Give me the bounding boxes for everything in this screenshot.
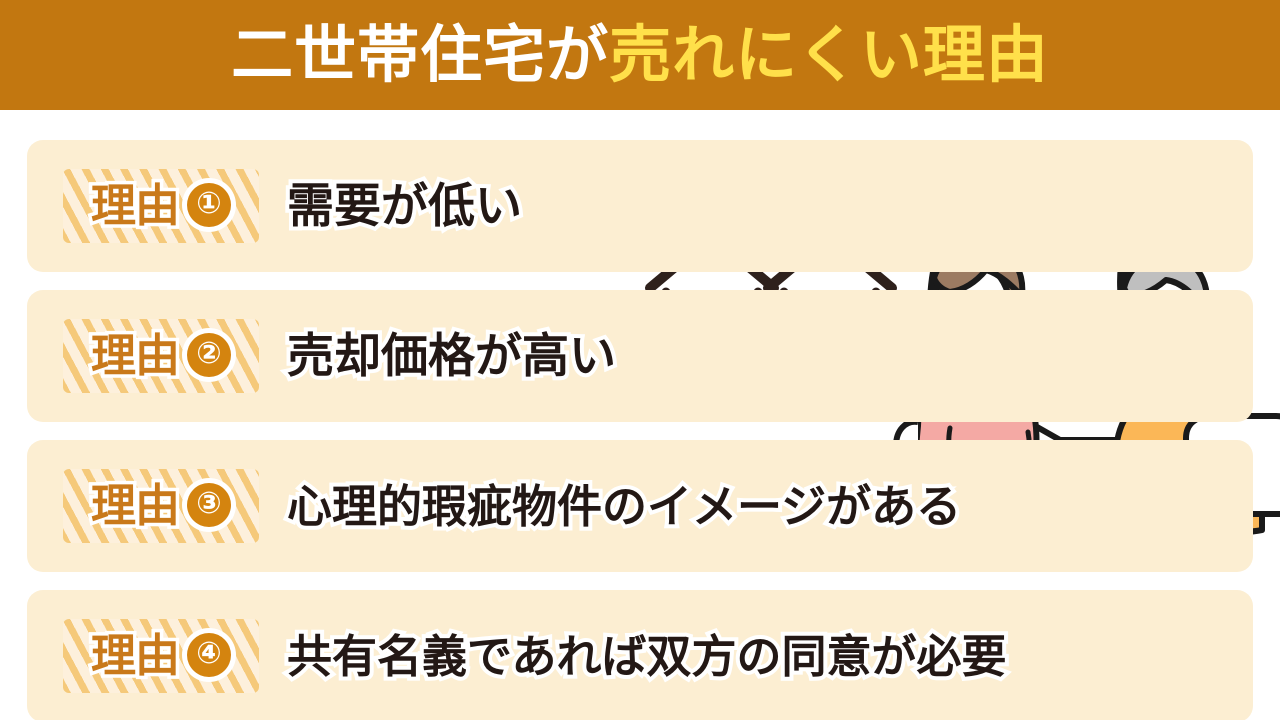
reason-text-3: 心理的瑕疵物件のイメージがある [287, 484, 961, 529]
reason-badge-number-3: ③ [187, 483, 231, 527]
reason-badge-number-text-3: ③ [196, 489, 221, 519]
reason-text-4: 共有名義であれば双方の同意が必要 [287, 634, 1007, 679]
header-bar: 二世帯住宅が売れにくい理由 [0, 0, 1280, 110]
reason-badge-label-4: 理由 [91, 633, 179, 678]
reason-badge-label-2: 理由 [91, 333, 179, 378]
reason-badge-number-4: ④ [187, 633, 231, 677]
reason-badge-4: 理由 ④ [63, 619, 259, 693]
page-title-white-part: 二世帯住宅が [231, 18, 609, 91]
reason-list: 理由 ① 需要が低い 理由 ② 売却価格が高い [27, 140, 1253, 720]
reason-badge-number-text-2: ② [196, 339, 221, 369]
reason-text-2: 売却価格が高い [287, 333, 616, 380]
reason-badge-number-2: ② [187, 333, 231, 377]
reason-text-1: 需要が低い [287, 183, 522, 230]
page-title-yellow-part: 売れにくい理由 [609, 18, 1049, 91]
reason-card-2: 理由 ② 売却価格が高い [27, 290, 1253, 422]
reason-badge-number-1: ① [187, 183, 231, 227]
reason-card-4: 理由 ④ 共有名義であれば双方の同意が必要 [27, 590, 1253, 720]
reason-badge-3: 理由 ③ [63, 469, 259, 543]
page-title: 二世帯住宅が売れにくい理由 [231, 24, 1049, 86]
reason-card-1: 理由 ① 需要が低い [27, 140, 1253, 272]
reason-badge-1: 理由 ① [63, 169, 259, 243]
reason-badge-label-1: 理由 [91, 183, 179, 228]
infographic-page: 二世帯住宅が売れにくい理由 [0, 0, 1280, 720]
reason-badge-2: 理由 ② [63, 319, 259, 393]
reason-badge-number-text-4: ④ [196, 639, 221, 669]
reason-badge-number-text-1: ① [196, 189, 221, 219]
reason-badge-label-3: 理由 [91, 483, 179, 528]
reason-card-3: 理由 ③ 心理的瑕疵物件のイメージがある [27, 440, 1253, 572]
